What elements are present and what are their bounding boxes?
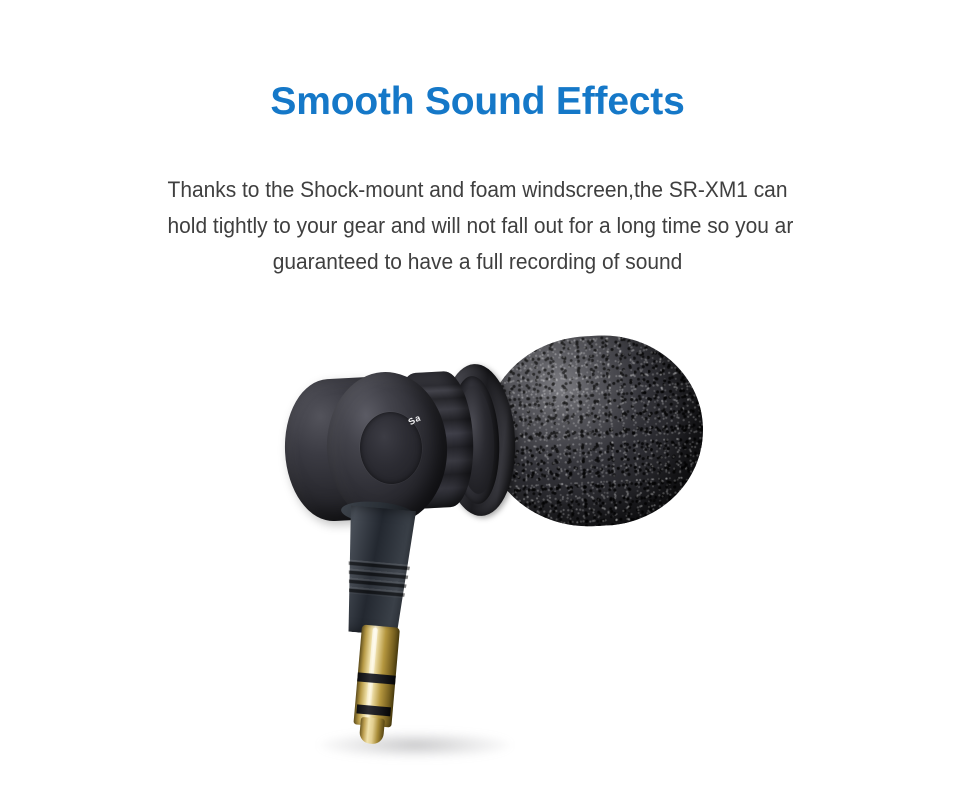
trs-plug-tip bbox=[359, 717, 385, 745]
product-drop-shadow bbox=[320, 732, 510, 758]
trs-plug bbox=[352, 625, 400, 744]
microphone-product-image: Saramonic bbox=[265, 320, 735, 770]
description-line-1: Thanks to the Shock-mount and foam winds… bbox=[33, 172, 921, 208]
description-line-2: hold tightly to your gear and will not f… bbox=[33, 208, 921, 244]
product-feature-page: Smooth Sound Effects Thanks to the Shock… bbox=[0, 0, 955, 788]
description-paragraph: Thanks to the Shock-mount and foam winds… bbox=[0, 172, 955, 280]
product-photo-stage: Saramonic bbox=[0, 300, 955, 788]
page-title: Smooth Sound Effects bbox=[0, 80, 955, 124]
description-line-3: guaranteed to have a full recording of s… bbox=[33, 244, 921, 280]
saramonic-logo-badge: Saramonic bbox=[358, 410, 424, 485]
plug-housing-ridges bbox=[334, 558, 423, 599]
